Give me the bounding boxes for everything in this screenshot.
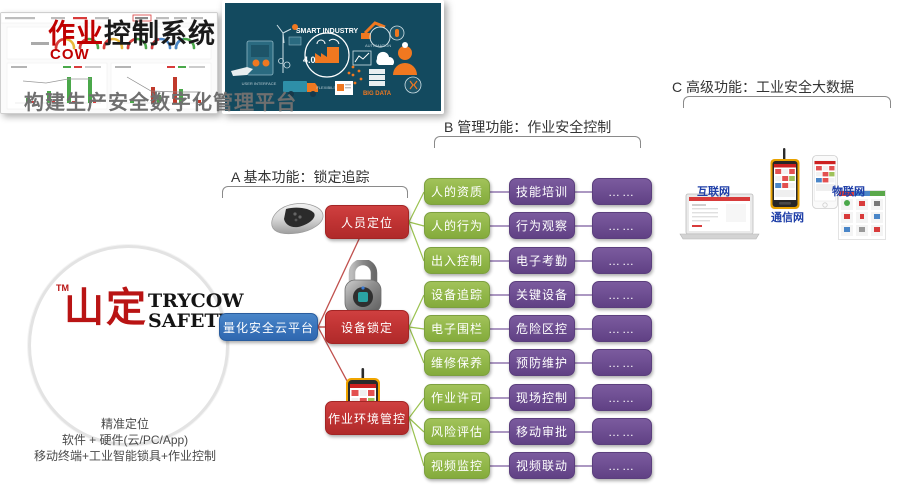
section-title-c: C 高级功能：工业安全大数据 <box>672 77 854 97</box>
node-more-8[interactable]: …… <box>592 418 652 445</box>
node-access-control[interactable]: 出入控制 <box>424 247 490 274</box>
slide-canvas: 作业控制系统 COW 构建生产安全数字化管理平台 A 基本功能：锁定追踪 B 管… <box>0 0 902 492</box>
node-electronic-fence[interactable]: 电子围栏 <box>424 315 490 342</box>
network-label-iot: 物联网 <box>832 183 865 199</box>
node-equipment-lock[interactable]: 设备锁定 <box>325 310 409 344</box>
industry-smart-caption: SMART INDUSTRY <box>296 28 359 35</box>
node-behavior-observation[interactable]: 行为观察 <box>509 212 575 239</box>
smartphone-photo <box>812 155 838 209</box>
industry-version-caption: 4.0 <box>303 55 316 65</box>
logo-chinese-name: 山定 <box>64 288 148 328</box>
smart-wristband-icon <box>268 200 326 236</box>
tagline-line-2: 软件 + 硬件(云/PC/App) <box>0 431 250 448</box>
node-maintenance[interactable]: 维修保养 <box>424 349 490 376</box>
node-more-3[interactable]: …… <box>592 247 652 274</box>
node-site-control[interactable]: 现场控制 <box>509 384 575 411</box>
node-risk-assessment[interactable]: 风险评估 <box>424 418 490 445</box>
network-label-communication: 通信网 <box>771 209 804 225</box>
logo-en-line1: TRYCOW <box>148 290 244 312</box>
node-personnel-qualification[interactable]: 人的资质 <box>424 178 490 205</box>
node-mobile-approval[interactable]: 移动审批 <box>509 418 575 445</box>
brand-subtitle: COW <box>50 46 90 63</box>
node-key-equipment[interactable]: 关键设备 <box>509 281 575 308</box>
node-skill-training[interactable]: 技能培训 <box>509 178 575 205</box>
industry-bigdata-caption: BIG DATA <box>363 91 392 97</box>
node-work-environment-control[interactable]: 作业环境管控 <box>325 401 409 435</box>
node-video-surveillance[interactable]: 视频监控 <box>424 452 490 479</box>
section-bracket-a <box>222 186 408 198</box>
node-more-7[interactable]: …… <box>592 384 652 411</box>
node-personnel-behavior[interactable]: 人的行为 <box>424 212 490 239</box>
node-equipment-tracking[interactable]: 设备追踪 <box>424 281 490 308</box>
network-label-internet: 互联网 <box>697 183 730 199</box>
node-electronic-attendance[interactable]: 电子考勤 <box>509 247 575 274</box>
node-more-1[interactable]: …… <box>592 178 652 205</box>
node-preventive-maintenance[interactable]: 预防维护 <box>509 349 575 376</box>
node-more-2[interactable]: …… <box>592 212 652 239</box>
node-personnel-positioning[interactable]: 人员定位 <box>325 205 409 239</box>
tagline-line-1: 精准定位 <box>0 415 250 432</box>
node-hazard-zone-control[interactable]: 危险区控 <box>509 315 575 342</box>
page-title-rest: 控制系统 <box>104 19 216 49</box>
node-more-5[interactable]: …… <box>592 315 652 342</box>
node-work-permit[interactable]: 作业许可 <box>424 384 490 411</box>
node-more-6[interactable]: …… <box>592 349 652 376</box>
rugged-phone-photo <box>770 148 800 210</box>
node-root-platform[interactable]: 量化安全云平台 <box>219 313 318 341</box>
industry-automation-caption: AUTOMATION <box>365 43 391 48</box>
section-title-a: A 基本功能：锁定追踪 <box>231 167 369 187</box>
headline: 构建生产安全数字化管理平台 <box>24 86 297 115</box>
smart-padlock-icon <box>340 260 386 316</box>
laptop-screenshot <box>678 193 761 241</box>
page-title-highlight: 作业 <box>48 19 104 49</box>
section-title-b: B 管理功能：作业安全控制 <box>444 117 611 137</box>
node-more-4[interactable]: …… <box>592 281 652 308</box>
tagline-line-3: 移动终端+工业智能锁具+作业控制 <box>0 447 250 464</box>
section-bracket-b <box>434 136 641 148</box>
section-bracket-c <box>683 96 891 108</box>
node-video-linkage[interactable]: 视频联动 <box>509 452 575 479</box>
node-more-9[interactable]: …… <box>592 452 652 479</box>
